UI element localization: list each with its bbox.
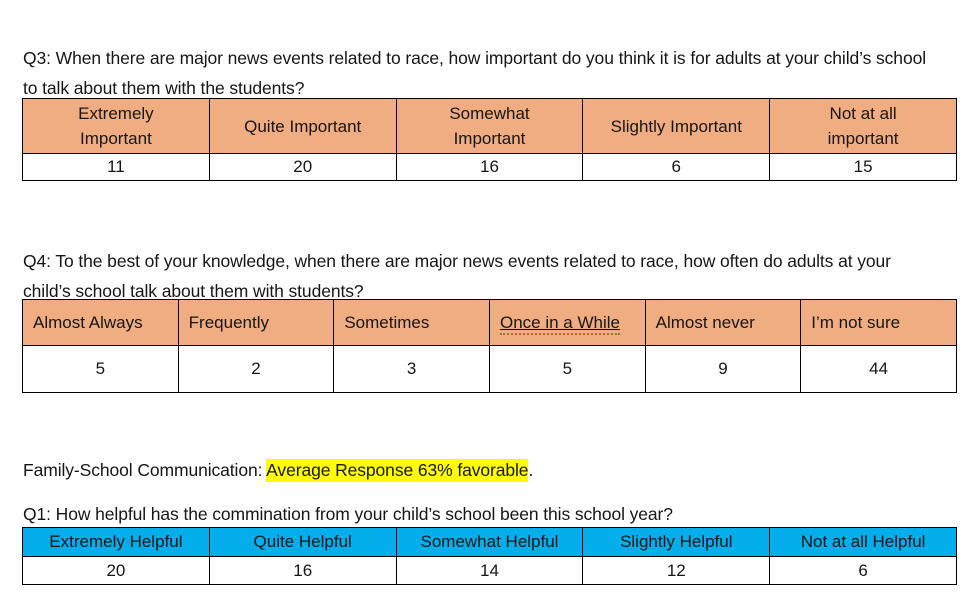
header-line: Important — [27, 126, 205, 151]
table-row-header: Extremely Important Quite Important Some… — [23, 99, 957, 154]
table-q1-header-cell-0: Extremely Helpful — [23, 528, 210, 557]
table-q4-header-cell-1: Frequently — [178, 300, 334, 346]
table-q1-value-0: 20 — [23, 557, 210, 585]
table-q3-header-cell-0: Extremely Important — [23, 99, 210, 154]
summary-highlighted-value: Average Response 63% favorable — [266, 459, 528, 482]
header-line: Slightly Important — [587, 114, 765, 139]
table-q4-value-1: 2 — [178, 346, 334, 393]
table-q1-header-cell-1: Quite Helpful — [209, 528, 396, 557]
table-row: 20 16 14 12 6 — [23, 557, 957, 585]
table-row: 11 20 16 6 15 — [23, 154, 957, 181]
table-q1-value-3: 12 — [583, 557, 770, 585]
table-q3-value-4: 15 — [770, 154, 957, 181]
table-row-header: Almost Always Frequently Sometimes Once … — [23, 300, 957, 346]
table-q4-value-4: 9 — [645, 346, 801, 393]
table-q4-value-0: 5 — [23, 346, 179, 393]
table-q3-value-3: 6 — [583, 154, 770, 181]
table-q4-header-cell-0: Almost Always — [23, 300, 179, 346]
summary-trailing-period: . — [528, 460, 533, 480]
document-page: Q3: When there are major news events rel… — [0, 0, 970, 604]
table-q4-value-3: 5 — [489, 346, 645, 393]
table-q4-header-cell-4: Almost never — [645, 300, 801, 346]
question-q1-text: Q1: How helpful has the commination from… — [23, 499, 933, 529]
table-q3-value-2: 16 — [396, 154, 583, 181]
table-q3-results: Extremely Important Quite Important Some… — [22, 98, 957, 181]
table-q4-header-cell-2: Sometimes — [334, 300, 490, 346]
table-q3-value-0: 11 — [23, 154, 210, 181]
family-school-communication-summary: Family-School Communication: Average Res… — [23, 456, 533, 484]
table-q4-header-cell-5: I’m not sure — [801, 300, 957, 346]
table-q4-value-5: 44 — [801, 346, 957, 393]
table-q3-header-cell-3: Slightly Important — [583, 99, 770, 154]
table-row: 5 2 3 5 9 44 — [23, 346, 957, 393]
question-q3-text: Q3: When there are major news events rel… — [23, 43, 933, 103]
header-line: Important — [401, 126, 579, 151]
table-q1-header-cell-3: Slightly Helpful — [583, 528, 770, 557]
table-q4-results: Almost Always Frequently Sometimes Once … — [22, 299, 957, 393]
table-q4-value-2: 3 — [334, 346, 490, 393]
spellcheck-underlined-text: Once in a While — [500, 313, 620, 335]
table-q1-header-cell-2: Somewhat Helpful — [396, 528, 583, 557]
header-line: Quite Important — [214, 114, 392, 139]
table-q3-header-cell-2: Somewhat Important — [396, 99, 583, 154]
table-q1-results: Extremely Helpful Quite Helpful Somewhat… — [22, 527, 957, 585]
table-q1-header-cell-4: Not at all Helpful — [770, 528, 957, 557]
table-q1-value-2: 14 — [396, 557, 583, 585]
table-q3-header-cell-4: Not at all important — [770, 99, 957, 154]
table-q3-value-1: 20 — [209, 154, 396, 181]
header-line: Somewhat — [401, 101, 579, 126]
table-q3-header-cell-1: Quite Important — [209, 99, 396, 154]
table-row-header: Extremely Helpful Quite Helpful Somewhat… — [23, 528, 957, 557]
header-line: Extremely — [27, 101, 205, 126]
question-q4-text: Q4: To the best of your knowledge, when … — [23, 246, 933, 306]
summary-label: Family-School Communication: — [23, 460, 266, 480]
table-q1-value-4: 6 — [770, 557, 957, 585]
header-line: important — [774, 126, 952, 151]
table-q4-header-cell-3: Once in a While — [489, 300, 645, 346]
table-q1-value-1: 16 — [209, 557, 396, 585]
header-line: Not at all — [774, 101, 952, 126]
